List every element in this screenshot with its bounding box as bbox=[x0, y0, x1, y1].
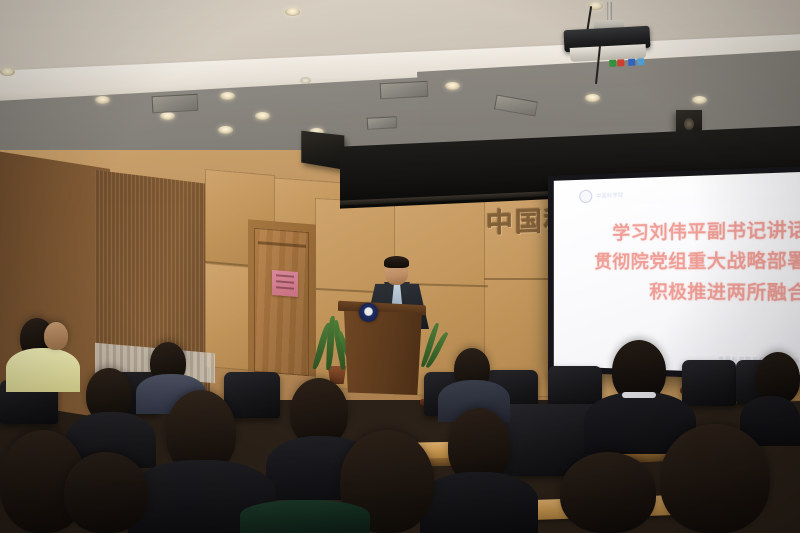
conference-chair[interactable] bbox=[682, 360, 736, 406]
slide-text-block: 学习刘伟平副书记讲话 贯彻院党组重大战略部署 积极推进两所融合 bbox=[554, 216, 800, 310]
downlight-icon bbox=[585, 94, 600, 102]
meeting-room-door[interactable] bbox=[254, 228, 309, 376]
downlight-icon bbox=[218, 126, 233, 134]
audience-head bbox=[44, 322, 68, 350]
downlight-icon bbox=[0, 68, 15, 76]
projector-led-red bbox=[617, 59, 624, 66]
audience-head bbox=[660, 424, 770, 533]
audience-shoulders bbox=[6, 348, 80, 392]
audience-shoulders bbox=[420, 472, 538, 533]
hvac-vent bbox=[152, 94, 199, 113]
speaker-hair bbox=[384, 256, 409, 268]
downlight-icon bbox=[445, 82, 460, 90]
slide-line-3: 积极推进两所融合 bbox=[554, 278, 800, 310]
audience-collar bbox=[622, 392, 656, 398]
logo-circle-icon bbox=[579, 190, 592, 204]
audience-head bbox=[560, 452, 656, 533]
projection-screen-surface: 中国科学院 学习刘伟平副书记讲话 贯彻院党组重大战略部署 积极推进两所融合 中国… bbox=[554, 171, 800, 375]
downlight-icon bbox=[692, 96, 707, 104]
downlight-icon bbox=[160, 112, 175, 120]
downlight-icon bbox=[220, 92, 235, 100]
downlight-icon bbox=[285, 8, 300, 16]
conference-room-photo: 中国科 中国科学院 学习刘伟平副书记讲话 贯彻院党组重大战略部署 积极推进两所融… bbox=[0, 0, 800, 533]
hvac-vent bbox=[380, 81, 429, 99]
smoke-detector-icon bbox=[300, 77, 311, 84]
projector-led-green bbox=[609, 60, 616, 67]
downlight-icon bbox=[255, 112, 270, 120]
slide-logo: 中国科学院 bbox=[579, 189, 623, 204]
notice-text-line bbox=[276, 274, 294, 277]
projector-led-green-2 bbox=[637, 58, 644, 65]
speaker-driver-icon bbox=[684, 118, 694, 130]
slide-logo-text: 中国科学院 bbox=[596, 192, 623, 200]
notice-text-line bbox=[276, 280, 294, 283]
conference-chair[interactable] bbox=[224, 372, 280, 418]
hvac-vent bbox=[367, 116, 398, 130]
audience-shoulders bbox=[240, 500, 370, 533]
projection-screen: 中国科学院 学习刘伟平副书记讲话 贯彻院党组重大战略部署 积极推进两所融合 中国… bbox=[548, 166, 800, 383]
slide-line-2: 贯彻院党组重大战略部署 bbox=[554, 247, 800, 278]
slide-line-1: 学习刘伟平副书记讲话 bbox=[554, 216, 800, 250]
door-notice-sign bbox=[272, 270, 298, 297]
projector-led-blue bbox=[628, 59, 635, 66]
downlight-icon bbox=[95, 96, 110, 104]
audience-head bbox=[64, 452, 148, 533]
notice-text-line bbox=[276, 286, 294, 289]
institute-emblem-icon bbox=[359, 303, 378, 322]
podium bbox=[344, 311, 422, 395]
